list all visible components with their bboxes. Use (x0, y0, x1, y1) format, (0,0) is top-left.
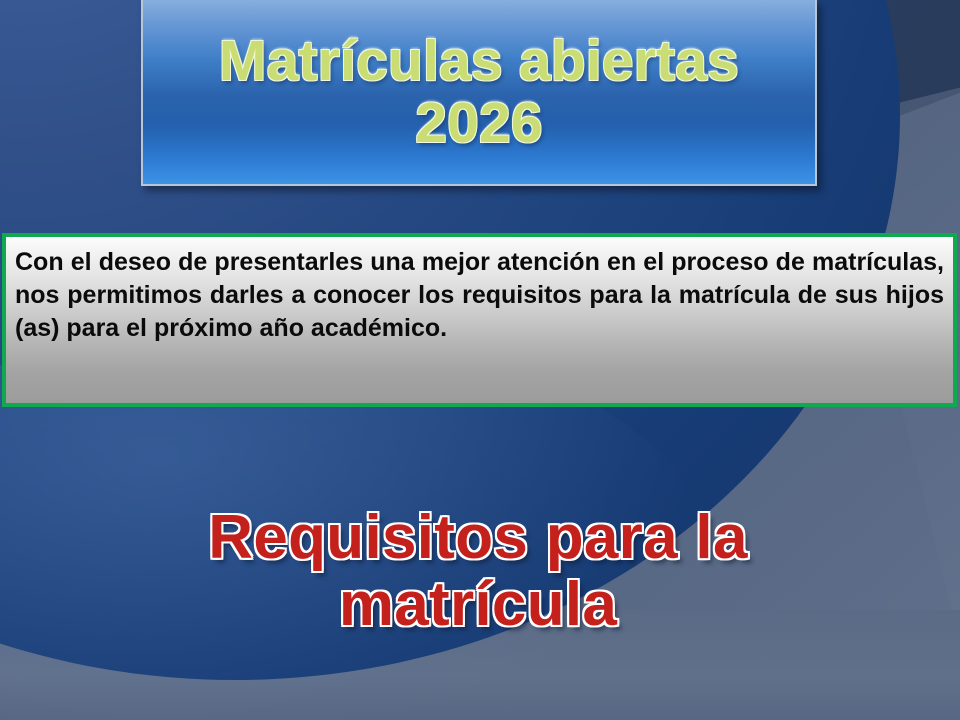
title-box: Matrículas abiertas 2026 (141, 0, 817, 186)
presentation-slide: Matrículas abiertas 2026 Con el deseo de… (0, 0, 960, 720)
subtitle-line-2: matrícula (78, 572, 878, 639)
title-line-2: 2026 (415, 94, 543, 152)
body-text-box: Con el deseo de presentarles una mejor a… (2, 233, 957, 407)
title-line-1: Matrículas abiertas (219, 32, 739, 90)
subtitle-heading: Requisitos para la matrícula (78, 505, 878, 639)
body-paragraph: Con el deseo de presentarles una mejor a… (15, 246, 944, 344)
subtitle-line-1: Requisitos para la (78, 505, 878, 572)
